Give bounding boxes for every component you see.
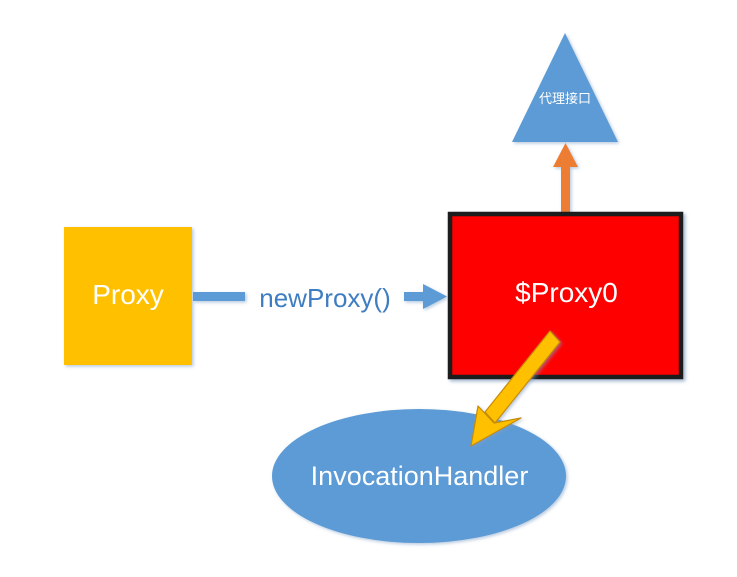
shape-invocation-handler-ellipse[interactable] (272, 409, 566, 543)
arrow-new-proxy[interactable] (193, 284, 447, 309)
shape-proxy-box[interactable] (64, 227, 192, 365)
arrow-implements[interactable] (553, 143, 578, 213)
diagram-canvas: 代理接口 Proxy $Proxy0 InvocationHandler new… (0, 0, 737, 577)
diagram-svg (0, 0, 737, 577)
shape-proxy-interface-triangle[interactable] (512, 33, 618, 142)
shape-proxy0-box[interactable] (450, 214, 681, 377)
